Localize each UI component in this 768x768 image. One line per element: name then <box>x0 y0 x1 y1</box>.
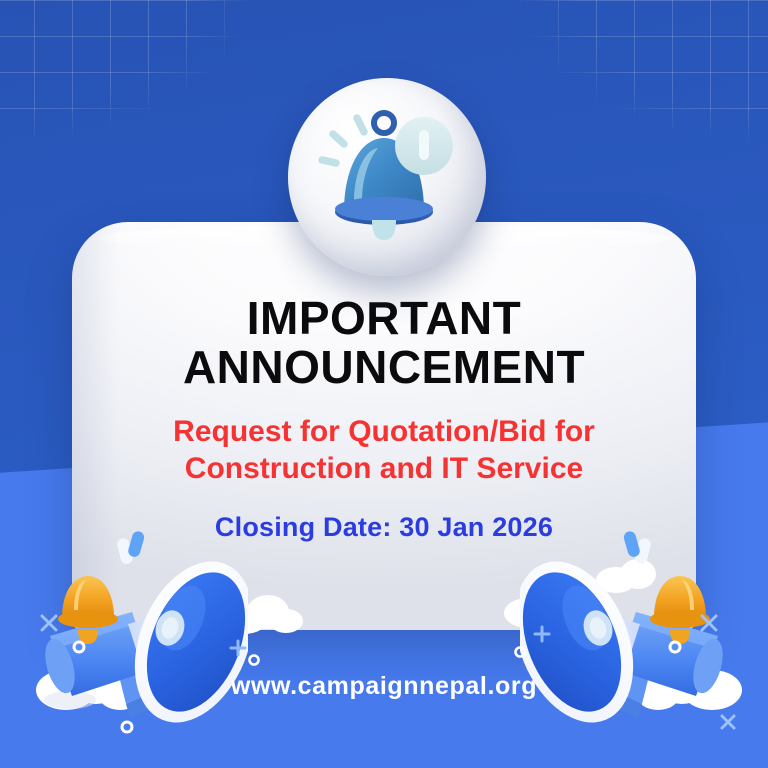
megaphone-left-icon <box>28 520 248 740</box>
closing-date: Closing Date: 30 Jan 2026 <box>215 512 553 543</box>
sparkle-cross-icon <box>228 638 248 658</box>
sparkle-cross-icon <box>698 612 720 634</box>
subheadline-line-2: Construction and IT Service <box>173 451 595 488</box>
headline-line-1: IMPORTANT <box>183 294 585 343</box>
sparkle-cross-icon <box>38 612 60 634</box>
sparkle-cross-icon <box>532 624 552 644</box>
website-url[interactable]: www.campaignnepal.org <box>0 672 768 701</box>
notification-bell-badge <box>288 78 486 276</box>
page-title: IMPORTANT ANNOUNCEMENT <box>183 294 585 392</box>
announcement-poster: IMPORTANT ANNOUNCEMENT Request for Quota… <box>0 0 768 768</box>
sparkle-cross-icon <box>718 712 738 732</box>
sparkle-ring-icon <box>666 638 684 656</box>
subheadline: Request for Quotation/Bid for Constructi… <box>173 414 595 487</box>
sparkle-ring-icon <box>118 718 136 736</box>
sparkle-ring-icon <box>70 638 88 656</box>
headline-line-2: ANNOUNCEMENT <box>183 343 585 392</box>
subheadline-line-1: Request for Quotation/Bid for <box>173 414 595 451</box>
sparkle-ring-icon <box>246 652 262 668</box>
bell-icon <box>288 78 486 276</box>
sparkle-ring-icon <box>512 644 528 660</box>
